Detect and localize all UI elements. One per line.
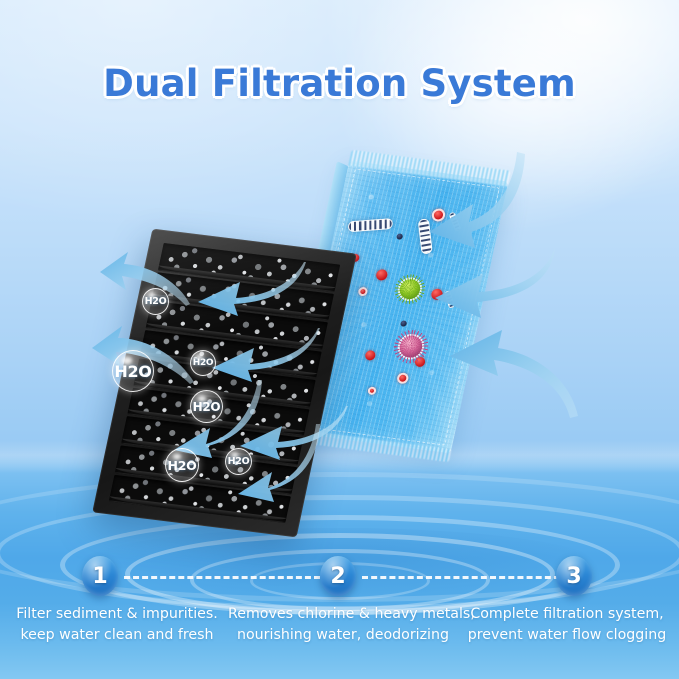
step-badge-2: 2	[320, 556, 356, 596]
poster-canvas: Dual Filtration System	[0, 0, 679, 679]
filtration-illustration	[0, 130, 679, 490]
red-particle-icon	[375, 269, 388, 281]
step-caption-3: Complete filtration system, prevent wate…	[458, 604, 676, 646]
bubble-highlight	[196, 355, 202, 359]
steps-footer: 1 2 3 Filter sediment & impurities. keep…	[0, 552, 679, 679]
bubble-highlight	[198, 396, 206, 401]
bubble-highlight	[149, 293, 156, 297]
red-particle-icon	[367, 386, 377, 395]
page-title: Dual Filtration System	[103, 62, 576, 105]
h2o-label: H2O	[193, 400, 221, 414]
caption-line: keep water clean and fresh	[6, 625, 228, 646]
step-connector-1-2	[124, 576, 320, 579]
caption-line: prevent water flow clogging	[458, 625, 676, 646]
h2o-bubble: H2O	[190, 390, 223, 423]
step-number: 3	[566, 564, 581, 589]
caption-line: Complete filtration system,	[458, 604, 676, 625]
transfer-arrow-top	[196, 258, 306, 318]
inflow-arrow-bottom	[420, 328, 580, 418]
transfer-arrow-middle	[210, 326, 320, 384]
step-caption-2: Removes chlorine & heavy metals, nourish…	[228, 604, 458, 646]
bacillus-bacteria-icon	[348, 218, 393, 232]
caption-line: nourishing water, deodorizing	[228, 625, 458, 646]
h2o-label: H2O	[145, 296, 167, 307]
h2o-label: H2O	[193, 358, 214, 368]
bubble-highlight	[122, 357, 132, 363]
caption-line: Filter sediment & impurities.	[6, 604, 228, 625]
h2o-label: H2O	[168, 458, 197, 473]
title-area: Dual Filtration System	[0, 62, 679, 105]
h2o-bubble: H2O	[190, 350, 216, 376]
h2o-bubble: H2O	[165, 448, 199, 482]
red-particle-icon	[396, 372, 409, 384]
h2o-label: H2O	[114, 362, 151, 381]
h2o-bubble: H2O	[225, 448, 252, 475]
red-particle-icon	[357, 287, 368, 297]
step-number: 2	[330, 564, 345, 589]
step-caption-1: Filter sediment & impurities. keep water…	[6, 604, 228, 646]
h2o-label: H2O	[228, 456, 250, 467]
inflow-arrow-middle	[405, 242, 555, 322]
bubble-highlight	[232, 453, 239, 457]
red-particle-icon	[364, 350, 376, 361]
h2o-bubble: H2O	[112, 350, 154, 392]
h2o-bubble: H2O	[142, 288, 169, 315]
caption-line: Removes chlorine & heavy metals,	[228, 604, 458, 625]
step-number: 1	[92, 564, 107, 589]
step-connector-2-3	[362, 576, 560, 579]
inflow-arrow-top	[395, 150, 525, 250]
step-badge-3: 3	[556, 556, 592, 596]
step-badge-1: 1	[82, 556, 118, 596]
